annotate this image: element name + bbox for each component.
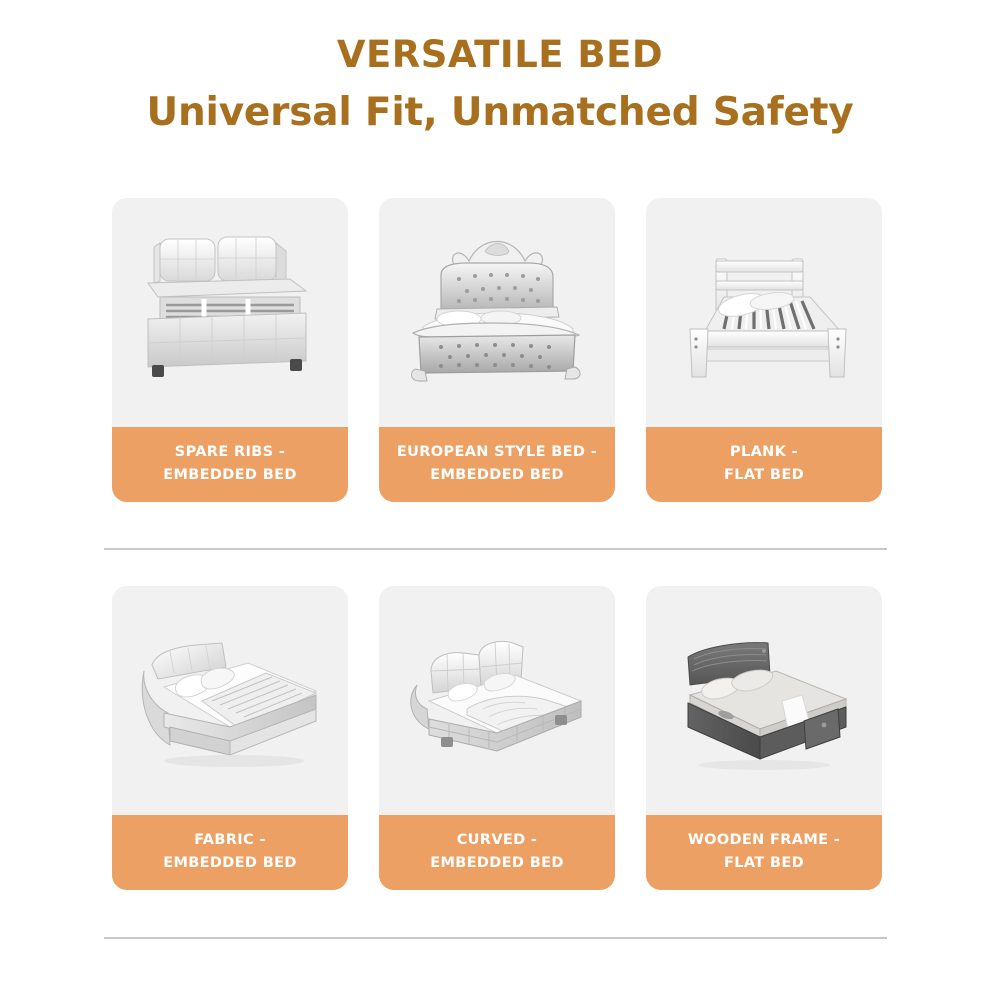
product-card-wooden-frame[interactable]: WOODEN FRAME - FLAT BED — [646, 586, 882, 890]
card-label-european-style: EUROPEAN STYLE BED - EMBEDDED BED — [379, 427, 615, 502]
divider-between-rows — [104, 548, 887, 550]
card-label-line1: CURVED - — [457, 832, 538, 848]
card-label-line1: EUROPEAN STYLE BED - — [397, 444, 597, 460]
card-label-spare-ribs: SPARE RIBS - EMBEDDED BED — [112, 427, 348, 502]
card-label-line2: FLAT BED — [652, 852, 876, 874]
product-card-european-style[interactable]: EUROPEAN STYLE BED - EMBEDDED BED — [379, 198, 615, 502]
card-label-wooden-frame: WOODEN FRAME - FLAT BED — [646, 815, 882, 890]
product-card-spare-ribs[interactable]: SPARE RIBS - EMBEDDED BED — [112, 198, 348, 502]
card-label-line1: SPARE RIBS - — [175, 444, 285, 460]
spare-ribs-embedded-bed-photo — [112, 198, 348, 427]
european-style-embedded-bed-photo — [379, 198, 615, 427]
card-label-line2: EMBEDDED BED — [118, 852, 342, 874]
product-card-grid: SPARE RIBS - EMBEDDED BED — [112, 198, 882, 890]
curved-embedded-bed-photo — [379, 586, 615, 815]
card-label-line2: EMBEDDED BED — [385, 852, 609, 874]
divider-below-grid — [104, 937, 887, 939]
header: VERSATILE BED Universal Fit, Unmatched S… — [0, 36, 1000, 134]
card-label-line2: EMBEDDED BED — [385, 464, 609, 486]
card-label-line1: PLANK - — [730, 444, 798, 460]
card-label-line2: FLAT BED — [652, 464, 876, 486]
card-label-line1: WOODEN FRAME - — [688, 832, 840, 848]
card-label-line1: FABRIC - — [194, 832, 266, 848]
product-card-curved[interactable]: CURVED - EMBEDDED BED — [379, 586, 615, 890]
card-row-1: SPARE RIBS - EMBEDDED BED — [112, 198, 882, 502]
page-title: VERSATILE BED — [0, 36, 1000, 75]
card-label-plank: PLANK - FLAT BED — [646, 427, 882, 502]
plank-flat-bed-photo — [646, 198, 882, 427]
card-label-curved: CURVED - EMBEDDED BED — [379, 815, 615, 890]
page-subtitle: Universal Fit, Unmatched Safety — [0, 93, 1000, 134]
card-row-2: FABRIC - EMBEDDED BED — [112, 586, 882, 890]
infographic-page: VERSATILE BED Universal Fit, Unmatched S… — [0, 0, 1000, 1000]
product-card-plank[interactable]: PLANK - FLAT BED — [646, 198, 882, 502]
card-label-fabric: FABRIC - EMBEDDED BED — [112, 815, 348, 890]
card-label-line2: EMBEDDED BED — [118, 464, 342, 486]
wooden-frame-flat-bed-photo — [646, 586, 882, 815]
product-card-fabric[interactable]: FABRIC - EMBEDDED BED — [112, 586, 348, 890]
fabric-embedded-bed-photo — [112, 586, 348, 815]
